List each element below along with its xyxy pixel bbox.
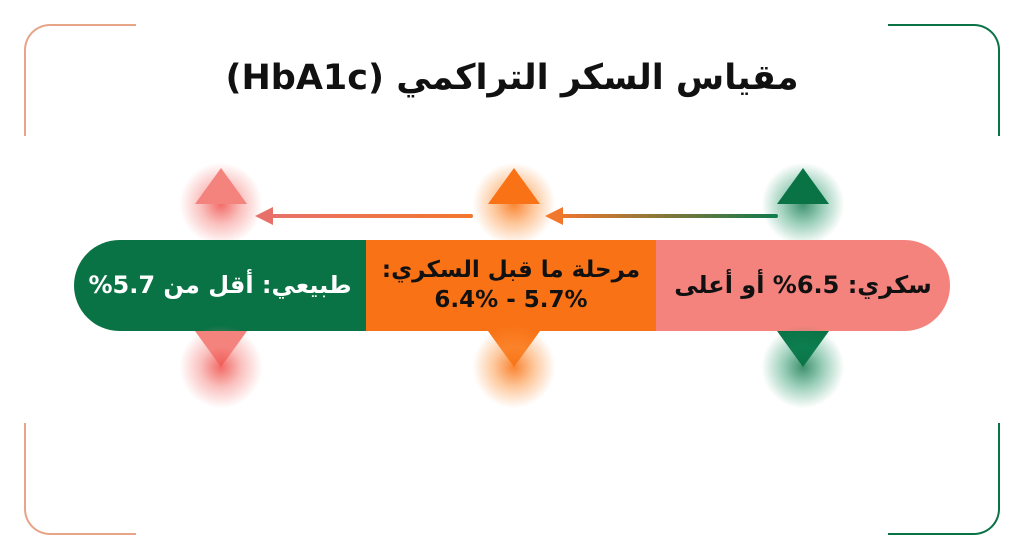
scale-segment-diabetic-label: سكري: 6.5% أو أعلى — [674, 270, 932, 301]
marker-spike-up-icon — [488, 168, 540, 204]
scale-segment-prediabetic-text: مرحلة ما قبل السكري: 5.7% - 6.4% — [382, 256, 640, 315]
scale-segment-normal-label: طبيعي: أقل من 5.7% — [88, 270, 351, 301]
marker-glow — [471, 324, 557, 410]
infographic-canvas: مقياس السكر التراكمي (HbA1c) سكري: 6.5% … — [0, 0, 1024, 559]
corner-bracket-bottom-right-icon — [888, 423, 1000, 535]
arrow-normal-to-prediabetic-icon — [545, 214, 778, 218]
arrow-shaft — [267, 214, 473, 218]
marker-glow — [178, 324, 264, 410]
page-title: مقياس السكر التراكمي (HbA1c) — [0, 58, 1024, 98]
hba1c-scale-bar: سكري: 6.5% أو أعلى مرحلة ما قبل السكري: … — [74, 240, 950, 331]
arrow-shaft — [557, 214, 778, 218]
marker-spike-up-icon — [777, 168, 829, 204]
scale-segment-prediabetic[interactable]: مرحلة ما قبل السكري: 5.7% - 6.4% — [366, 240, 656, 331]
hba1c-scale: سكري: 6.5% أو أعلى مرحلة ما قبل السكري: … — [74, 240, 950, 331]
corner-bracket-bottom-left-icon — [24, 423, 136, 535]
scale-segment-diabetic[interactable]: سكري: 6.5% أو أعلى — [656, 240, 950, 331]
scale-segment-prediabetic-range: 5.7% - 6.4% — [382, 286, 640, 315]
scale-segment-normal[interactable]: طبيعي: أقل من 5.7% — [74, 240, 366, 331]
arrow-prediabetic-to-diabetic-icon — [255, 214, 473, 218]
scale-segment-prediabetic-label: مرحلة ما قبل السكري: — [382, 256, 640, 285]
marker-glow — [760, 324, 846, 410]
marker-spike-up-icon — [195, 168, 247, 204]
